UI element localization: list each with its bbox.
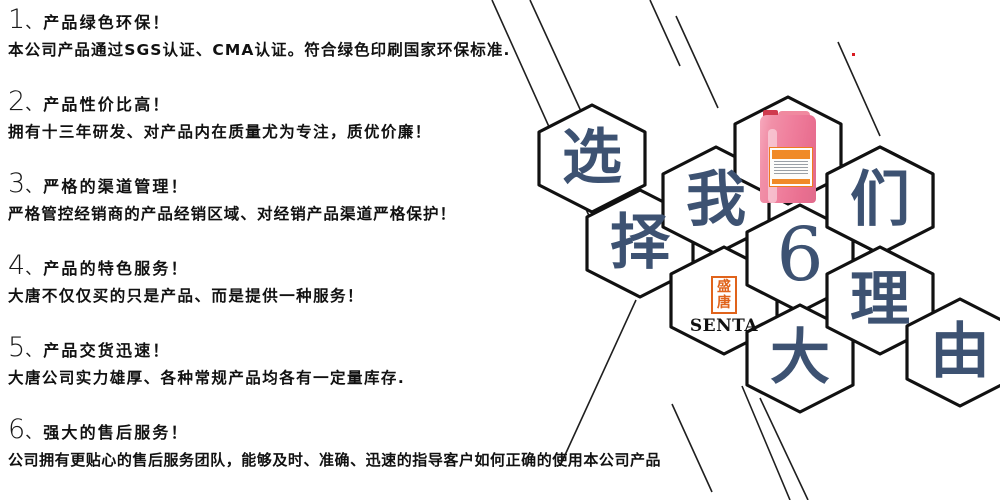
reason-number: 5 <box>8 334 25 361</box>
reason-body: 本公司产品通过SGS认证、CMA认证。符合绿色印刷国家环保标准. <box>8 42 960 59</box>
reason-number: 2 <box>8 88 25 115</box>
reason-body: 大唐不仅仅买的只是产品、而是提供一种服务！ <box>8 288 960 305</box>
reason-separator: 、 <box>25 425 41 441</box>
reason-item-4: 4 、 产品的特色服务！ 大唐不仅仅买的只是产品、而是提供一种服务！ <box>8 252 960 325</box>
reason-heading: 5 、 产品交货迅速！ <box>8 334 960 361</box>
reason-number: 1 <box>8 6 25 33</box>
reason-heading: 1 、 产品绿色环保！ <box>8 6 960 33</box>
reason-heading: 4 、 产品的特色服务！ <box>8 252 960 279</box>
reason-item-2: 2 、 产品性价比高！ 拥有十三年研发、对产品内在质量尤为专注，质优价廉！ <box>8 88 960 161</box>
reason-item-5: 5 、 产品交货迅速！ 大唐公司实力雄厚、各种常规产品均各有一定量库存. <box>8 334 960 407</box>
reason-title: 产品的特色服务！ <box>43 261 189 277</box>
reason-title: 产品交货迅速！ <box>43 343 170 359</box>
reason-body: 拥有十三年研发、对产品内在质量尤为专注，质优价廉！ <box>8 124 960 141</box>
reason-separator: 、 <box>25 179 41 195</box>
reason-title: 强大的售后服务！ <box>43 425 189 441</box>
reason-title: 产品性价比高！ <box>43 97 170 113</box>
reason-item-3: 3 、 严格的渠道管理！ 严格管控经销商的产品经销区域、对经销产品渠道严格保护！ <box>8 170 960 243</box>
reason-number: 4 <box>8 252 25 279</box>
reason-list: 1 、 产品绿色环保！ 本公司产品通过SGS认证、CMA认证。符合绿色印刷国家环… <box>0 0 960 498</box>
reason-title: 严格的渠道管理！ <box>43 179 189 195</box>
reason-body: 公司拥有更贴心的售后服务团队，能够及时、准确、迅速的指导客户如何正确的使用本公司… <box>8 452 960 469</box>
reason-separator: 、 <box>25 97 41 113</box>
reason-body: 大唐公司实力雄厚、各种常规产品均各有一定量库存. <box>8 370 960 387</box>
reason-item-6: 6 、 强大的售后服务！ 公司拥有更贴心的售后服务团队，能够及时、准确、迅速的指… <box>8 416 960 489</box>
reason-item-1: 1 、 产品绿色环保！ 本公司产品通过SGS认证、CMA认证。符合绿色印刷国家环… <box>8 6 960 79</box>
reason-heading: 2 、 产品性价比高！ <box>8 88 960 115</box>
reason-heading: 6 、 强大的售后服务！ <box>8 416 960 443</box>
reason-heading: 3 、 严格的渠道管理！ <box>8 170 960 197</box>
reason-number: 6 <box>8 416 25 443</box>
reason-title: 产品绿色环保！ <box>43 15 170 31</box>
reason-body: 严格管控经销商的产品经销区域、对经销产品渠道严格保护！ <box>8 206 960 223</box>
reason-separator: 、 <box>25 261 41 277</box>
promo-poster: 选 择 我 6 大 们 理 由 盛 唐 SENTA <box>0 0 1000 500</box>
reason-number: 3 <box>8 170 25 197</box>
reason-separator: 、 <box>25 343 41 359</box>
reason-separator: 、 <box>25 15 41 31</box>
